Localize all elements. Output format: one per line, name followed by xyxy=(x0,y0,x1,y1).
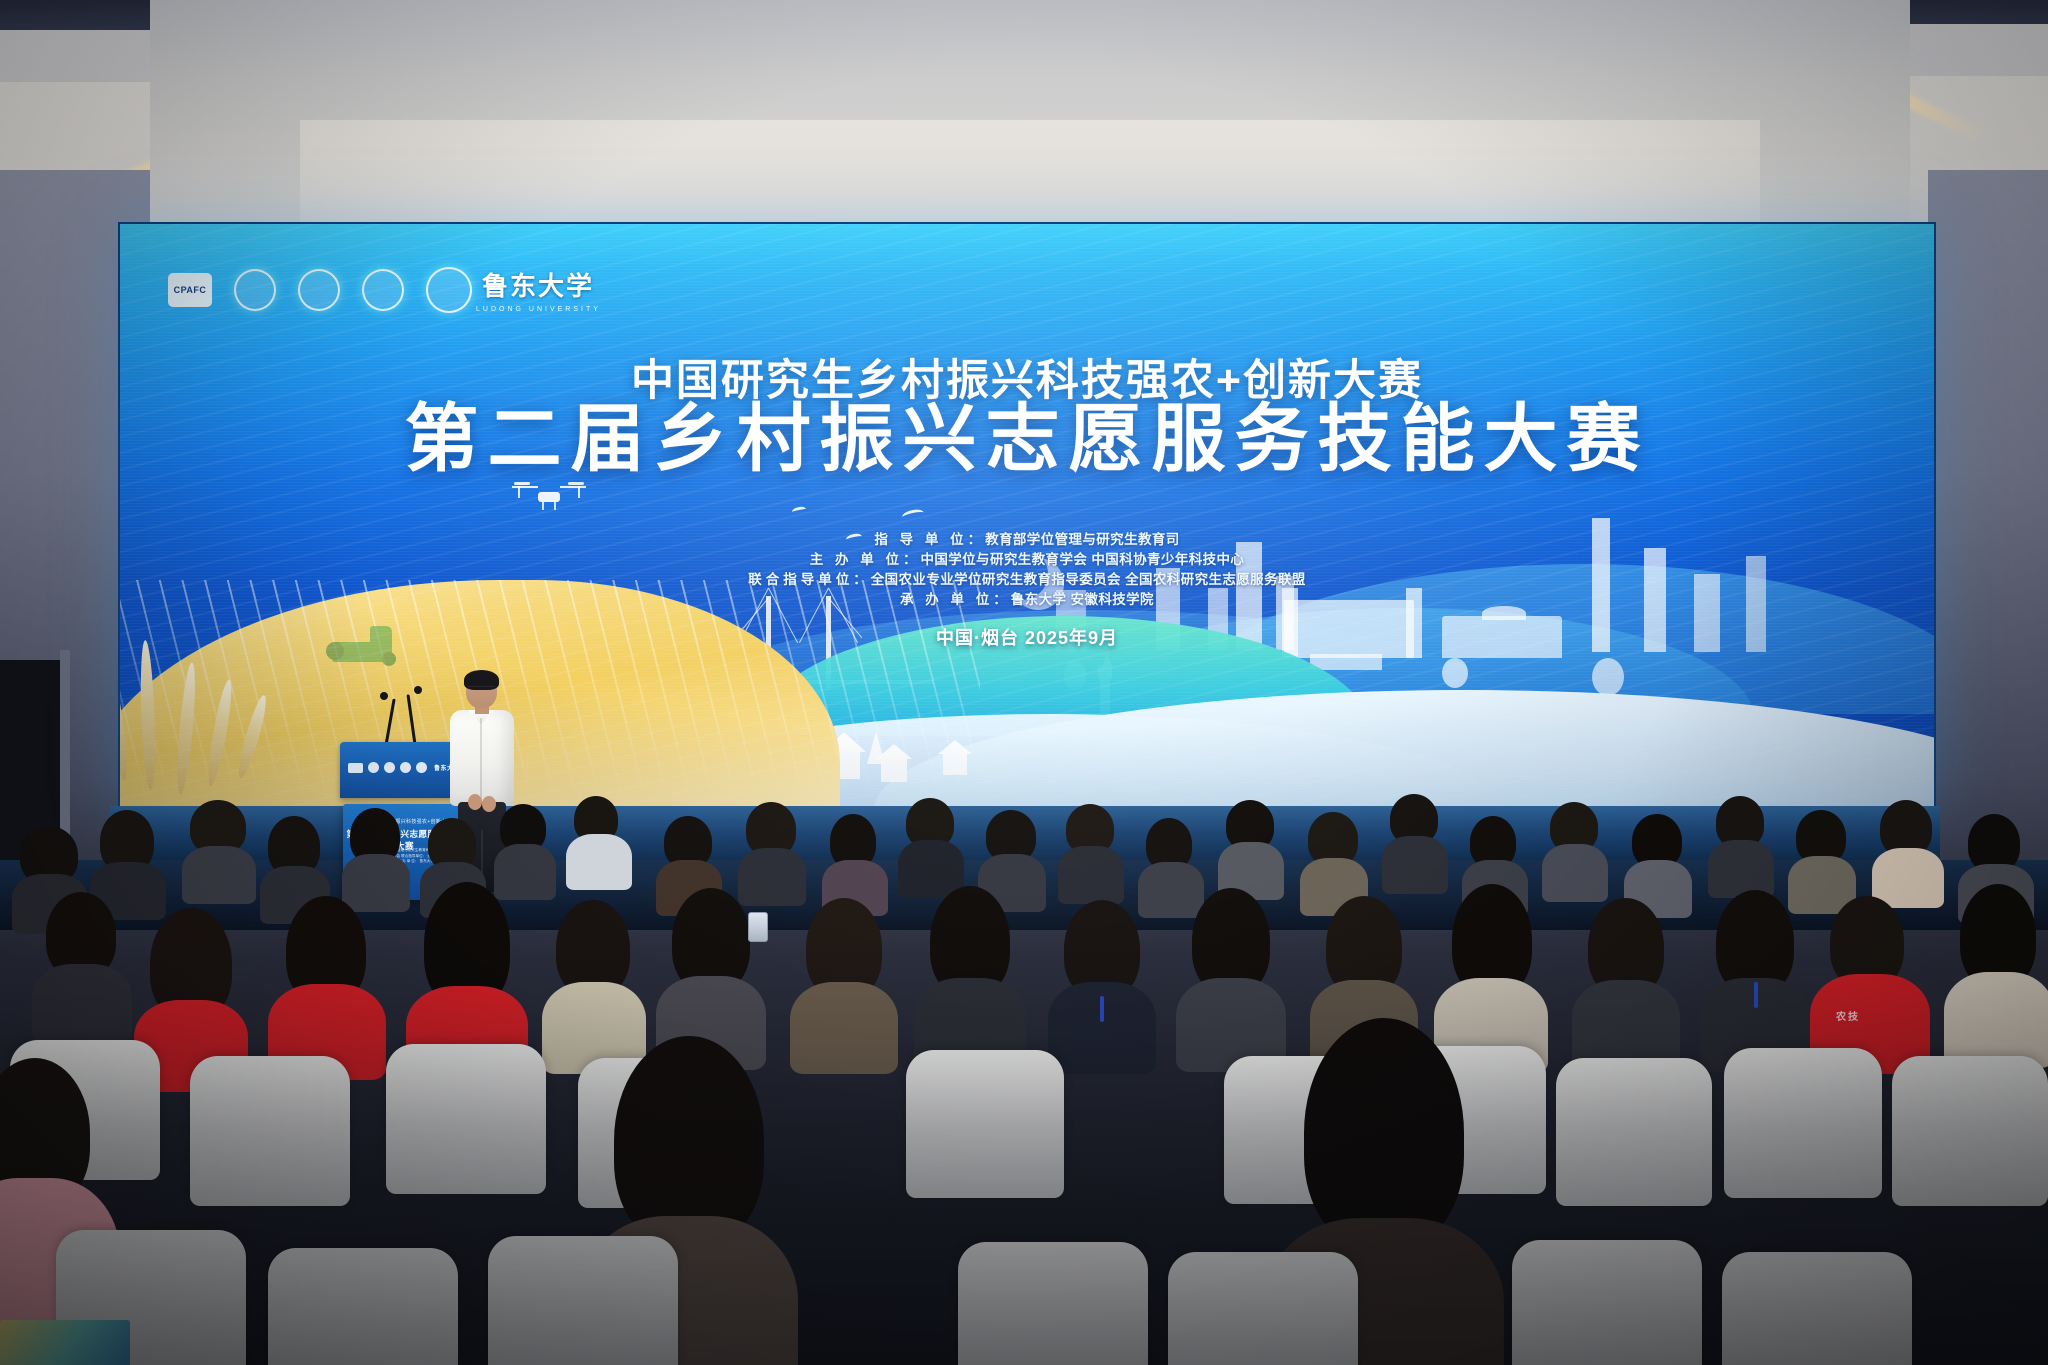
audience-seating: 农技 xyxy=(0,800,2048,1365)
podium-logo-icon xyxy=(368,762,379,773)
podium-logo-icon xyxy=(384,762,395,773)
organizer-label: 指 导 单 位： xyxy=(874,532,985,547)
organizer-value: 鲁东大学 安徽科技学院 xyxy=(1011,592,1154,607)
organizer-block: 指 导 单 位：教育部学位管理与研究生教育司 主 办 单 位：中国学位与研究生教… xyxy=(120,530,1934,610)
podium-logo-icon xyxy=(400,762,411,773)
organizer-row: 承 办 单 位：鲁东大学 安徽科技学院 xyxy=(120,590,1934,610)
event-main-title: 第二届乡村振兴志愿服务技能大赛 xyxy=(120,402,1934,476)
organizer-label: 承 办 单 位： xyxy=(900,592,1011,607)
chair xyxy=(488,1236,678,1365)
microphone-head-icon xyxy=(380,692,388,700)
chair xyxy=(1722,1252,1912,1365)
chair xyxy=(386,1044,546,1194)
glasses-icon xyxy=(468,686,495,693)
chair xyxy=(958,1242,1148,1365)
organizer-label: 联合指导单位： xyxy=(748,572,871,587)
lanyard xyxy=(1100,996,1104,1022)
podium-logo-icon xyxy=(348,763,363,773)
speaker-shirt-placket xyxy=(480,718,482,802)
volunteer-heart-logo xyxy=(362,269,404,311)
organizer-row: 主 办 单 位：中国学位与研究生教育学会 中国科协青少年科技中心 xyxy=(120,550,1934,570)
phone-icon xyxy=(748,912,768,942)
organizer-value: 中国学位与研究生教育学会 中国科协青少年科技中心 xyxy=(920,552,1244,567)
ludong-university-name-cn: 鲁东大学 xyxy=(482,266,594,303)
organizer-label: 主 办 单 位： xyxy=(810,552,921,567)
chair xyxy=(268,1248,458,1365)
volunteer-shirt-text: 农技 xyxy=(1836,1008,1860,1023)
chair xyxy=(906,1050,1064,1198)
conference-hall-photo: CPAFC 鲁东大学 LUDONG UNIVERSITY 中国研究生乡村振兴科技… xyxy=(0,0,2048,1365)
chair xyxy=(1512,1240,1702,1365)
cdgdc-logo xyxy=(234,269,276,311)
podium-logo-icon xyxy=(416,762,427,773)
organizer-row: 联合指导单位：全国农业专业学位研究生教育指导委员会 全国农科研究生志愿服务联盟 xyxy=(120,570,1934,590)
sponsor-logo-strip: CPAFC 鲁东大学 LUDONG UNIVERSITY xyxy=(168,266,601,313)
chair xyxy=(1556,1058,1712,1206)
ludong-university-name-en: LUDONG UNIVERSITY xyxy=(476,306,601,313)
tote-bag xyxy=(0,1320,130,1365)
chair xyxy=(1892,1056,2048,1206)
chair xyxy=(190,1056,350,1206)
chair xyxy=(1168,1252,1358,1365)
speaker-shirt xyxy=(450,710,514,806)
cpafc-logo: CPAFC xyxy=(168,273,212,307)
organizer-value: 教育部学位管理与研究生教育司 xyxy=(985,532,1180,547)
agri-competition-logo xyxy=(298,269,340,311)
organizer-row: 指 导 单 位：教育部学位管理与研究生教育司 xyxy=(120,530,1934,550)
event-date-location: 中国·烟台 2025年9月 xyxy=(120,624,1934,650)
organizer-value: 全国农业专业学位研究生教育指导委员会 全国农科研究生志愿服务联盟 xyxy=(871,572,1306,587)
chair xyxy=(1724,1048,1882,1198)
microphone-head-icon xyxy=(414,686,422,694)
cpafc-logo-text: CPAFC xyxy=(174,285,207,295)
lanyard xyxy=(1754,982,1758,1008)
ludong-university-logo: 鲁东大学 LUDONG UNIVERSITY xyxy=(426,266,601,313)
